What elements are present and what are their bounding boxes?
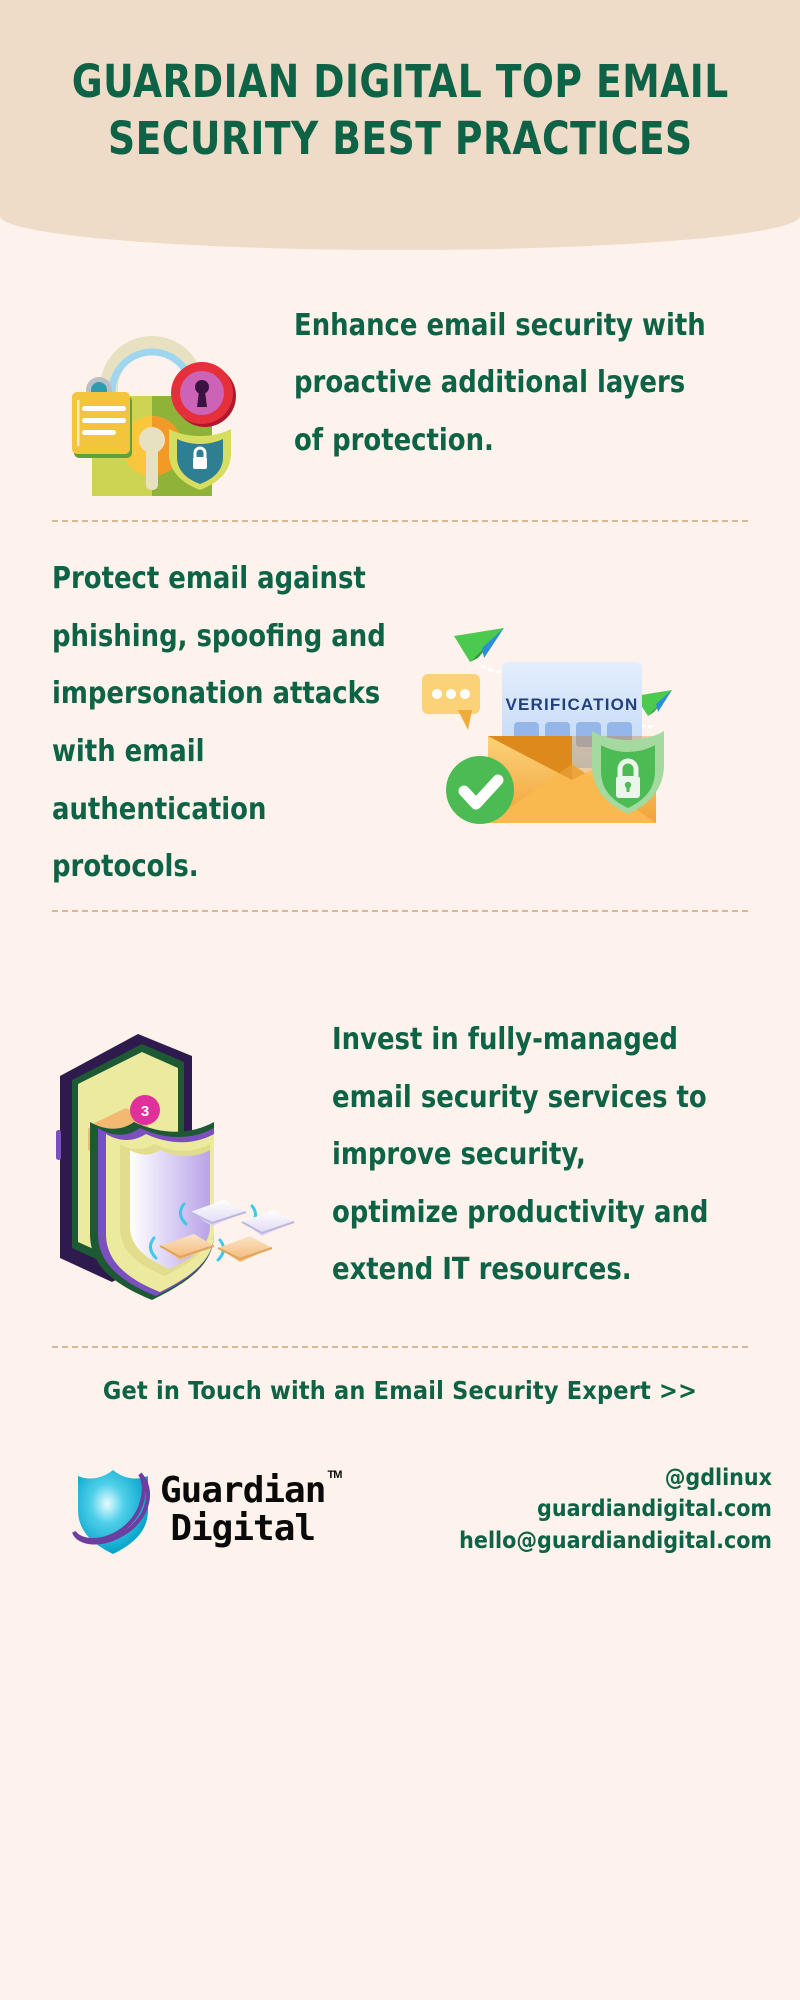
infographic-body: Enhance email security with proactive ad… — [0, 250, 800, 2000]
email-verification-icon: VERIFICATION — [420, 618, 675, 828]
contact-info: @gdlinux guardiandigital.com hello@guard… — [459, 1463, 772, 1557]
contact-website[interactable]: guardiandigital.com — [459, 1494, 772, 1525]
brand-wordmark: Guardian TM Digital — [160, 1472, 325, 1548]
footer: Guardian TM Digital @gdlinux guardiandig… — [0, 1430, 800, 1590]
padlock-shield-document-icon — [52, 268, 252, 498]
paper-plane-icon — [454, 628, 504, 662]
contact-handle[interactable]: @gdlinux — [459, 1463, 772, 1494]
contact-email[interactable]: hello@guardiandigital.com — [459, 1526, 772, 1557]
chat-bubble-icon — [422, 674, 480, 730]
header-banner: GUARDIAN DIGITAL TOP EMAIL SECURITY BEST… — [0, 0, 800, 250]
guardian-shield-logo-icon — [70, 1464, 156, 1556]
badge-count: 3 — [141, 1103, 149, 1120]
page-title-line1: GUARDIAN DIGITAL TOP EMAIL — [72, 54, 729, 111]
section-text-managed-services: Invest in fully-managed email security s… — [332, 1011, 716, 1299]
page-title-line2: SECURITY BEST PRACTICES — [108, 111, 693, 168]
check-circle-icon — [446, 756, 514, 824]
brand-logo[interactable]: Guardian TM Digital — [70, 1464, 325, 1556]
brand-wordmark-line1: Guardian — [160, 1470, 325, 1511]
section-email-authentication: Protect email against phishing, spoofing… — [52, 548, 752, 898]
cta-link[interactable]: Get in Touch with an Email Security Expe… — [0, 1376, 800, 1405]
section-divider-1 — [52, 520, 748, 522]
svg-text:VERIFICATION: VERIFICATION — [505, 695, 638, 714]
section-divider-2 — [52, 910, 748, 912]
section-enhance-email-security: Enhance email security with proactive ad… — [52, 258, 752, 508]
section-text-enhance: Enhance email security with proactive ad… — [294, 297, 707, 470]
flying-envelope-4 — [242, 1210, 294, 1236]
section-managed-services: 3 — [42, 940, 762, 1370]
flying-envelope-3 — [218, 1236, 272, 1262]
brand-wordmark-line2: Digital — [160, 1510, 325, 1548]
section-divider-3 — [52, 1346, 748, 1348]
section-text-authentication: Protect email against phishing, spoofing… — [52, 550, 388, 896]
notification-badge: 3 — [130, 1095, 160, 1125]
trademark-symbol: TM — [328, 1470, 342, 1482]
phone-shield-mail-icon: 3 — [42, 1010, 292, 1300]
